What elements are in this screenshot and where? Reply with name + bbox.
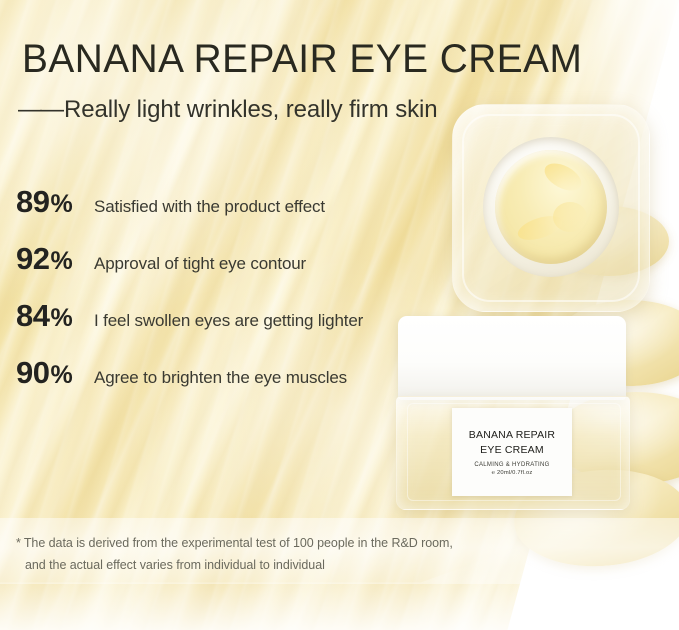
stat-description: Satisfied with the product effect [94, 198, 325, 215]
percent-sign: % [50, 190, 72, 218]
cream-swirl [553, 202, 587, 232]
cream-swirl [540, 158, 586, 196]
product-label-line-2: EYE CREAM [480, 443, 544, 458]
stat-description: Agree to brighten the eye muscles [94, 369, 347, 386]
product-infographic: BANANA REPAIR EYE CREAM CALMING & HYDRAT… [0, 0, 679, 630]
product-label-tagline: CALMING & HYDRATING [474, 462, 549, 468]
percent-sign: % [50, 361, 72, 389]
page-title: BANANA REPAIR EYE CREAM [22, 38, 582, 80]
footnote: *The data is derived from the experiment… [16, 533, 453, 577]
cream-swirl [515, 211, 565, 244]
subtitle-text: Really light wrinkles, really firm skin [64, 96, 438, 123]
stat-row: 89% Satisfied with the product effect [16, 186, 436, 243]
stat-percentage-value: 89 [16, 184, 49, 219]
cream-surface [495, 150, 607, 264]
stat-percentage: 92% [16, 243, 94, 274]
product-label-volume: ℮ 20ml/0.7fl.oz [492, 470, 533, 476]
stat-percentage: 90% [16, 357, 94, 388]
footnote-line-2: and the actual effect varies from indivi… [25, 555, 453, 577]
stat-percentage-value: 92 [16, 241, 49, 276]
page-subtitle: ——Really light wrinkles, really firm ski… [18, 95, 438, 125]
subtitle-dash: —— [18, 96, 62, 123]
stat-percentage: 89% [16, 186, 94, 217]
stat-row: 90% Agree to brighten the eye muscles [16, 357, 436, 414]
stat-percentage: 84% [16, 300, 94, 331]
stat-description: Approval of tight eye contour [94, 255, 306, 272]
product-label-line-1: BANANA REPAIR [469, 428, 555, 443]
percent-sign: % [50, 304, 72, 332]
footnote-line-1: The data is derived from the experimenta… [24, 536, 453, 550]
statistics-list: 89% Satisfied with the product effect 92… [16, 186, 436, 414]
product-label: BANANA REPAIR EYE CREAM CALMING & HYDRAT… [452, 408, 572, 496]
jar-opening [483, 137, 619, 277]
stat-description: I feel swollen eyes are getting lighter [94, 312, 363, 329]
stat-row: 84% I feel swollen eyes are getting ligh… [16, 300, 436, 357]
stat-row: 92% Approval of tight eye contour [16, 243, 436, 300]
stat-percentage-value: 84 [16, 298, 49, 333]
footnote-asterisk: * [16, 536, 21, 550]
percent-sign: % [50, 247, 72, 275]
stat-percentage-value: 90 [16, 355, 49, 390]
open-cream-jar [452, 104, 650, 312]
